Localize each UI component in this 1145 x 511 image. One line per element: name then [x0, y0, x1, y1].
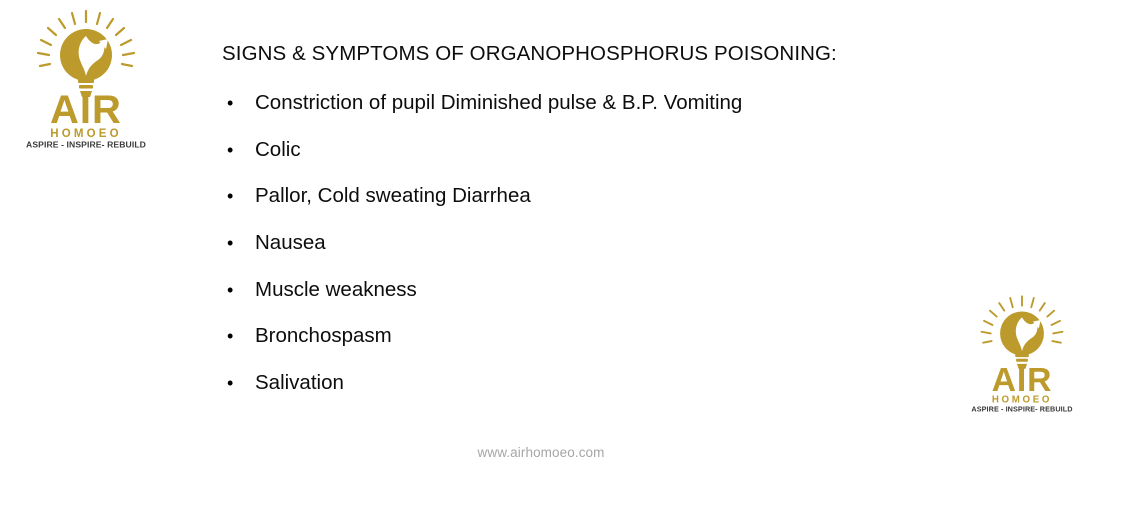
lightbulb-with-rays-icon [38, 11, 134, 97]
list-item: • Muscle weakness [222, 275, 922, 322]
list-item-label: Constriction of pupil Diminished pulse &… [255, 88, 742, 118]
list-item: • Bronchospasm [222, 321, 922, 368]
logo-wordmark: AIR [992, 361, 1053, 399]
list-item: • Pallor, Cold sweating Diarrhea [222, 181, 922, 228]
list-item-label: Nausea [255, 228, 326, 258]
logo-subtitle: HOMOEO [50, 128, 122, 140]
bullet-point-icon: • [227, 88, 233, 118]
list-item: • Constriction of pupil Diminished pulse… [222, 88, 922, 135]
list-item-label: Muscle weakness [255, 275, 417, 305]
list-item-label: Salivation [255, 368, 344, 398]
logo-wordmark: AIR [50, 88, 122, 132]
list-item-label: Bronchospasm [255, 321, 392, 351]
list-item: • Nausea [222, 228, 922, 275]
bullet-point-icon: • [227, 135, 233, 165]
symptom-list: • Constriction of pupil Diminished pulse… [222, 88, 922, 415]
bullet-point-icon: • [227, 228, 233, 258]
list-item-label: Pallor, Cold sweating Diarrhea [255, 181, 531, 211]
logo-tagline: ASPIRE - INSPIRE- REBUILD [26, 140, 146, 149]
lightbulb-with-rays-icon [982, 296, 1063, 369]
bullet-point-icon: • [227, 181, 233, 211]
slide-heading: SIGNS & SYMPTOMS OF ORGANOPHOSPHORUS POI… [222, 41, 837, 67]
brand-logo-watermark: AIR HOMOEO ASPIRE - INSPIRE- REBUILD [968, 292, 1076, 412]
bullet-point-icon: • [227, 368, 233, 398]
bullet-point-icon: • [227, 321, 233, 351]
footer-website-url: www.airhomoeo.com [0, 445, 1082, 460]
bullet-point-icon: • [227, 275, 233, 305]
list-item: • Salivation [222, 368, 922, 415]
list-item-label: Colic [255, 135, 301, 165]
brand-logo: AIR HOMOEO ASPIRE - INSPIRE- REBUILD [22, 6, 150, 148]
logo-tagline: ASPIRE - INSPIRE- REBUILD [971, 404, 1072, 412]
list-item: • Colic [222, 135, 922, 182]
